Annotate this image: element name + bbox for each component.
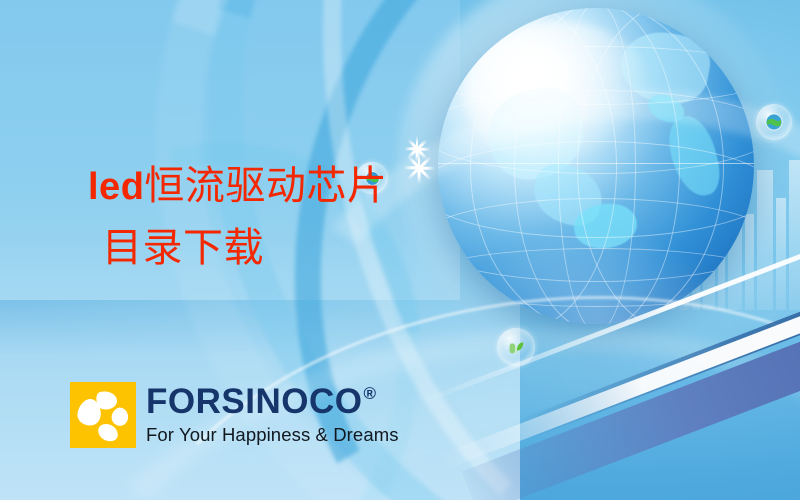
globe-icon [438,8,754,324]
globe-sphere [438,8,754,324]
sparkle-icon [403,152,435,184]
title-line-1: led恒流驱动芯片 [88,166,387,206]
page-title: led恒流驱动芯片 目录下载 [88,166,387,268]
four-petal-pinwheel-icon [70,382,136,448]
title-line-2: 目录下载 [102,228,387,268]
bubble-globe-icon [756,104,792,140]
title-cjk-text: 恒流驱动芯片 [144,163,387,208]
registered-trademark-icon: ® [363,385,376,402]
logo-text-block: FORSINOCO ® For Your Happiness & Dreams [146,382,399,446]
company-logo: FORSINOCO ® For Your Happiness & Dreams [70,382,399,448]
bubble-sprout-inner [497,328,535,366]
title-latin-text: led [88,166,144,208]
logo-wordmark-text: FORSINOCO [146,384,362,419]
globe-highlight [463,21,653,166]
banner-image: led恒流驱动芯片 目录下载 FORSINOCO ® For Your Happ… [0,0,800,500]
logo-tagline: For Your Happiness & Dreams [146,424,399,446]
bubble-globe-inner [756,104,792,140]
logo-wordmark: FORSINOCO ® [146,384,399,419]
bubble-sprout-icon [497,328,535,366]
